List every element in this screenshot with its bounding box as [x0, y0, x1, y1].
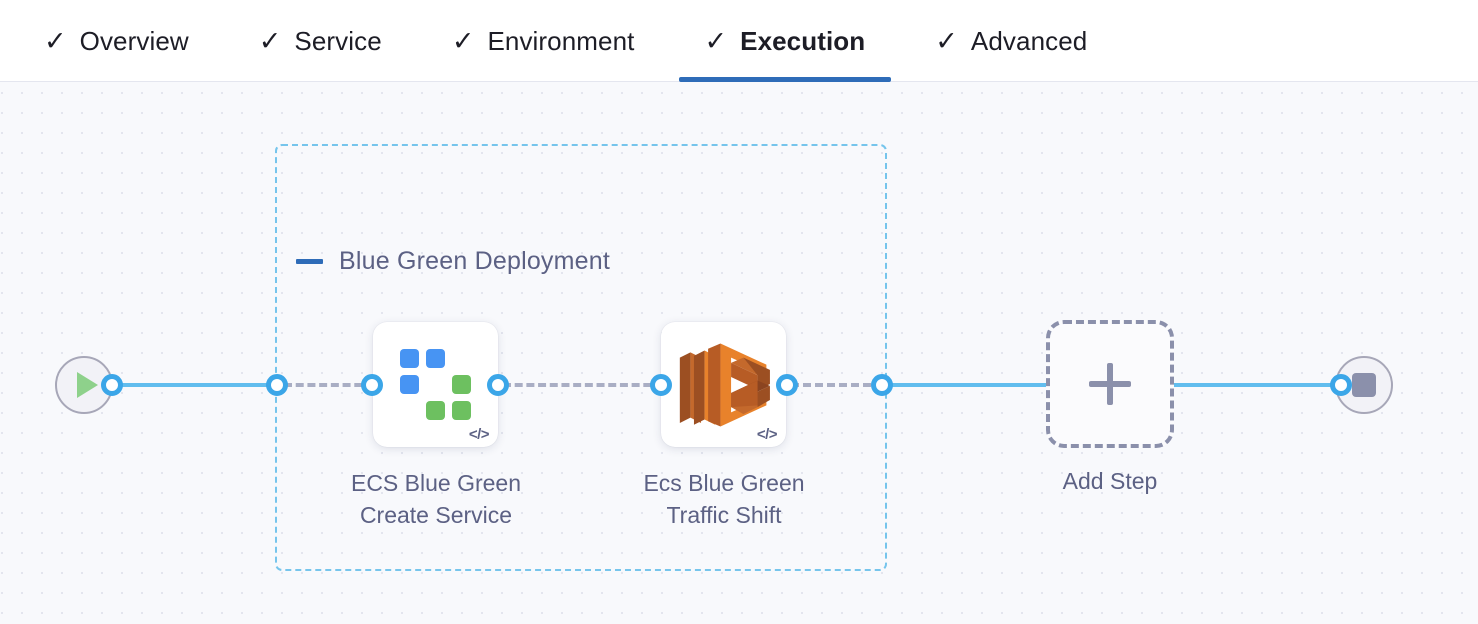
edge-step1-to-step2: [503, 383, 663, 387]
grid-cell: [400, 375, 419, 394]
tab-label: Environment: [487, 26, 634, 57]
tab-label: Advanced: [971, 26, 1087, 57]
plus-icon: [1089, 363, 1131, 405]
check-icon: ✓: [452, 28, 475, 55]
tab-label: Service: [294, 26, 381, 57]
code-icon: </>: [757, 426, 777, 443]
tab-environment[interactable]: ✓ Environment: [452, 0, 635, 82]
step-card[interactable]: </>: [373, 322, 498, 447]
step-label-line1: Ecs Blue Green: [624, 468, 824, 500]
connector-step2-out[interactable]: [776, 374, 798, 396]
edge-start-to-group: [112, 383, 280, 387]
grid-cell: [452, 401, 471, 420]
grid-cell: [426, 349, 445, 368]
step-group-title: Blue Green Deployment: [339, 247, 610, 276]
step-node-ecs-blue-green-traffic-shift[interactable]: </> Ecs Blue Green Traffic Shift: [661, 322, 786, 447]
pipeline-canvas[interactable]: Blue Green Deployment: [0, 82, 1478, 624]
connector-step1-in[interactable]: [361, 374, 383, 396]
grid-cell: [400, 401, 419, 420]
check-icon: ✓: [935, 28, 958, 55]
code-icon: </>: [469, 426, 489, 443]
step-label: ECS Blue Green Create Service: [336, 468, 536, 531]
tab-overview[interactable]: ✓ Overview: [44, 0, 189, 82]
step-label: Ecs Blue Green Traffic Shift: [624, 468, 824, 531]
tab-advanced[interactable]: ✓ Advanced: [935, 0, 1087, 82]
step-group-header[interactable]: Blue Green Deployment: [296, 247, 610, 276]
minus-icon[interactable]: [296, 259, 323, 264]
connector-group-entry[interactable]: [266, 374, 288, 396]
grid-cell: [426, 375, 445, 394]
edge-group-to-addstep: [887, 383, 1049, 387]
check-icon: ✓: [705, 28, 728, 55]
aws-ecs-icon: [671, 338, 777, 432]
tab-execution[interactable]: ✓ Execution: [705, 0, 866, 82]
stage-tab-bar: ✓ Overview ✓ Service ✓ Environment ✓ Exe…: [0, 0, 1478, 82]
grid-cell: [452, 349, 471, 368]
grid-cell: [426, 401, 445, 420]
step-card[interactable]: </>: [661, 322, 786, 447]
check-icon: ✓: [44, 28, 67, 55]
connector-group-exit[interactable]: [871, 374, 893, 396]
connector-start-out[interactable]: [101, 374, 123, 396]
step-label-line2: Create Service: [336, 500, 536, 532]
step-node-ecs-blue-green-create-service[interactable]: </> ECS Blue Green Create Service: [373, 322, 498, 447]
connector-step2-in[interactable]: [650, 374, 672, 396]
ecs-blue-green-grid-icon: [400, 349, 471, 420]
grid-cell: [400, 349, 419, 368]
pipeline-studio-screen: ✓ Overview ✓ Service ✓ Environment ✓ Exe…: [0, 0, 1478, 624]
edge-addstep-to-end: [1172, 383, 1342, 387]
step-label-line2: Traffic Shift: [624, 500, 824, 532]
grid-cell: [452, 375, 471, 394]
tab-label: Execution: [740, 26, 865, 57]
stop-icon: [1352, 373, 1376, 397]
tab-service[interactable]: ✓ Service: [259, 0, 382, 82]
add-step-button[interactable]: [1046, 320, 1174, 448]
edge-step2-to-group-exit: [791, 383, 883, 387]
connector-step1-out[interactable]: [487, 374, 509, 396]
tab-label: Overview: [80, 26, 189, 57]
add-step-label: Add Step: [1010, 468, 1210, 495]
connector-end-in[interactable]: [1330, 374, 1352, 396]
check-icon: ✓: [259, 28, 282, 55]
step-label-line1: ECS Blue Green: [336, 468, 536, 500]
play-icon: [77, 372, 98, 398]
